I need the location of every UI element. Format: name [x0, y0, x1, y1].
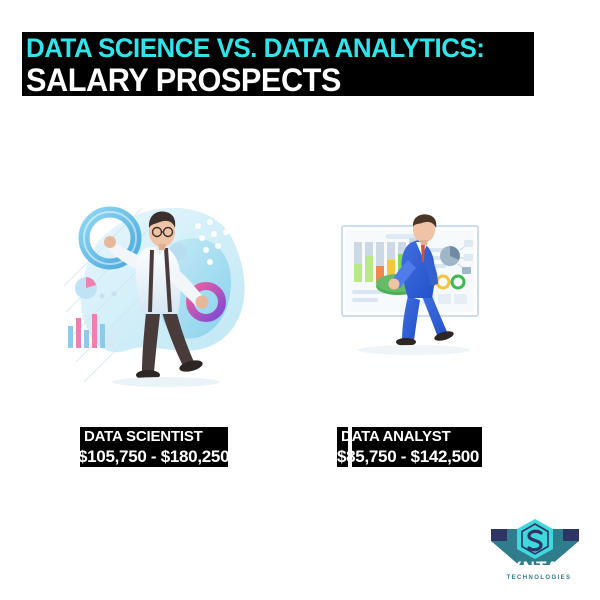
- data-analyst-role-text-b: DATA ANALYST: [352, 427, 451, 446]
- data-scientist-illustration: [58, 190, 258, 395]
- data-analyst-salary-band-right: $85,750 - $142,500: [352, 446, 482, 467]
- page-title: DATA SCIENCE VS. DATA ANALYTICS: SALARY …: [22, 32, 534, 96]
- title-line1-text: DATA SCIENCE VS. DATA ANALYTICS:: [26, 32, 484, 64]
- data-scientist-role-label: DATA SCIENTIST: [80, 427, 228, 446]
- title-band-line1: DATA SCIENCE VS. DATA ANALYTICS:: [22, 32, 534, 64]
- data-analyst-role-band-right: DATA ANALYST: [352, 427, 482, 446]
- logo-tagline: TECHNOLOGIES: [507, 575, 572, 581]
- data-analyst-salary-text-b: $85,750 - $142,500: [352, 446, 479, 467]
- data-scientist-label-group: DATA SCIENTIST $105,750 - $180,250: [80, 427, 228, 467]
- data-analyst-label-group: DATA ANALYST DATA ANALYST $85,750 - $142…: [337, 427, 482, 467]
- data-analyst-illustration: [322, 212, 502, 367]
- data-analyst-role-text-a: DATA ANALYST: [341, 427, 348, 446]
- title-line2-text: SALARY PROSPECTS: [26, 64, 341, 96]
- title-band-line2: SALARY PROSPECTS: [22, 64, 534, 96]
- data-analyst-salary-band-left: $85,750 - $142,500: [337, 446, 348, 467]
- data-analyst-role-row: DATA ANALYST DATA ANALYST: [337, 427, 482, 446]
- data-analyst-role-band-left: DATA ANALYST: [337, 427, 348, 446]
- data-analyst-salary-text-a: $85,750 - $142,500: [337, 446, 348, 467]
- data-scientist-salary-label: $105,750 - $180,250: [80, 446, 228, 467]
- syntax-technologies-logo: SYNTAX TECHNOLOGIES: [487, 511, 583, 581]
- poster-canvas: DATA SCIENCE VS. DATA ANALYTICS: SALARY …: [0, 0, 600, 600]
- data-analyst-salary-row: $85,750 - $142,500 $85,750 - $142,500: [337, 446, 482, 467]
